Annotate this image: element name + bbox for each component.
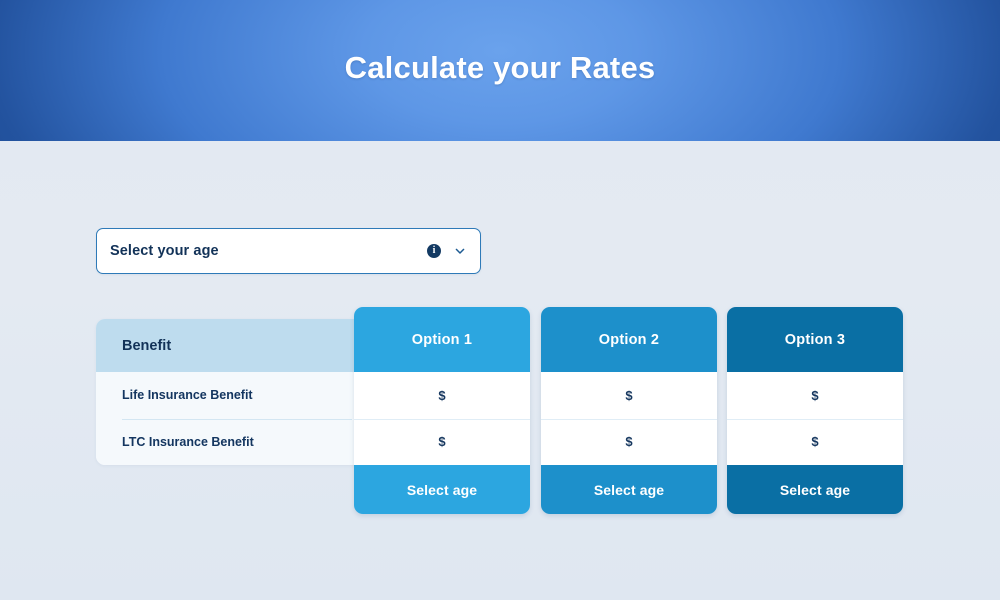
info-icon[interactable]: i xyxy=(427,244,441,258)
option-card: Option 1 $ $ Select age xyxy=(354,307,530,514)
table-cell: $ xyxy=(354,372,530,419)
hero-banner: Calculate your Rates xyxy=(0,0,1000,141)
rates-comparison-table: Benefit Life Insurance Benefit LTC Insur… xyxy=(96,319,904,519)
option-card: Option 3 $ $ Select age xyxy=(727,307,903,514)
select-age-button[interactable]: Select age xyxy=(541,465,717,514)
table-row: Life Insurance Benefit xyxy=(96,372,366,419)
option-title: Option 1 xyxy=(354,307,530,372)
table-cell: $ xyxy=(727,419,903,466)
page-background: Calculate your Rates Select your age i B… xyxy=(0,0,1000,600)
option-card: Option 2 $ $ Select age xyxy=(541,307,717,514)
table-cell: $ xyxy=(541,419,717,466)
chevron-down-icon[interactable] xyxy=(454,245,466,257)
select-age-button[interactable]: Select age xyxy=(354,465,530,514)
age-select-label: Select your age xyxy=(110,243,427,259)
table-cell: $ xyxy=(354,419,530,466)
option-title: Option 3 xyxy=(727,307,903,372)
table-row: LTC Insurance Benefit xyxy=(96,419,366,466)
option-title: Option 2 xyxy=(541,307,717,372)
table-cell: $ xyxy=(727,372,903,419)
page-title: Calculate your Rates xyxy=(0,50,1000,86)
table-cell: $ xyxy=(541,372,717,419)
benefit-column-header: Benefit xyxy=(96,319,366,372)
benefit-panel: Benefit Life Insurance Benefit LTC Insur… xyxy=(96,319,366,465)
age-select-dropdown[interactable]: Select your age i xyxy=(96,228,481,274)
select-age-button[interactable]: Select age xyxy=(727,465,903,514)
